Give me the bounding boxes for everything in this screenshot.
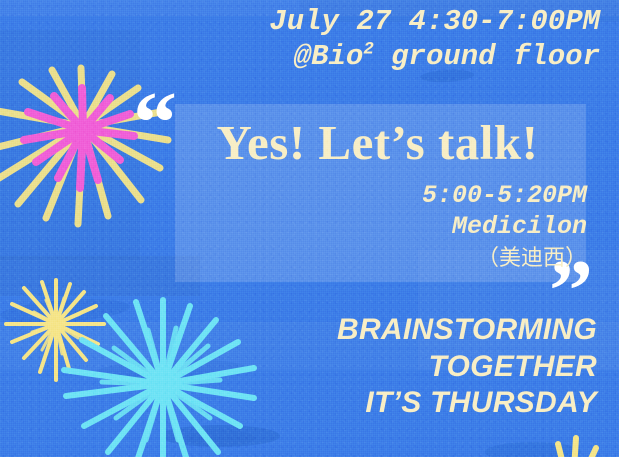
- event-poster: July 27 4:30-7:00PM @Bio2 ground floor “…: [0, 0, 619, 457]
- background-grain-overlay: [0, 0, 619, 457]
